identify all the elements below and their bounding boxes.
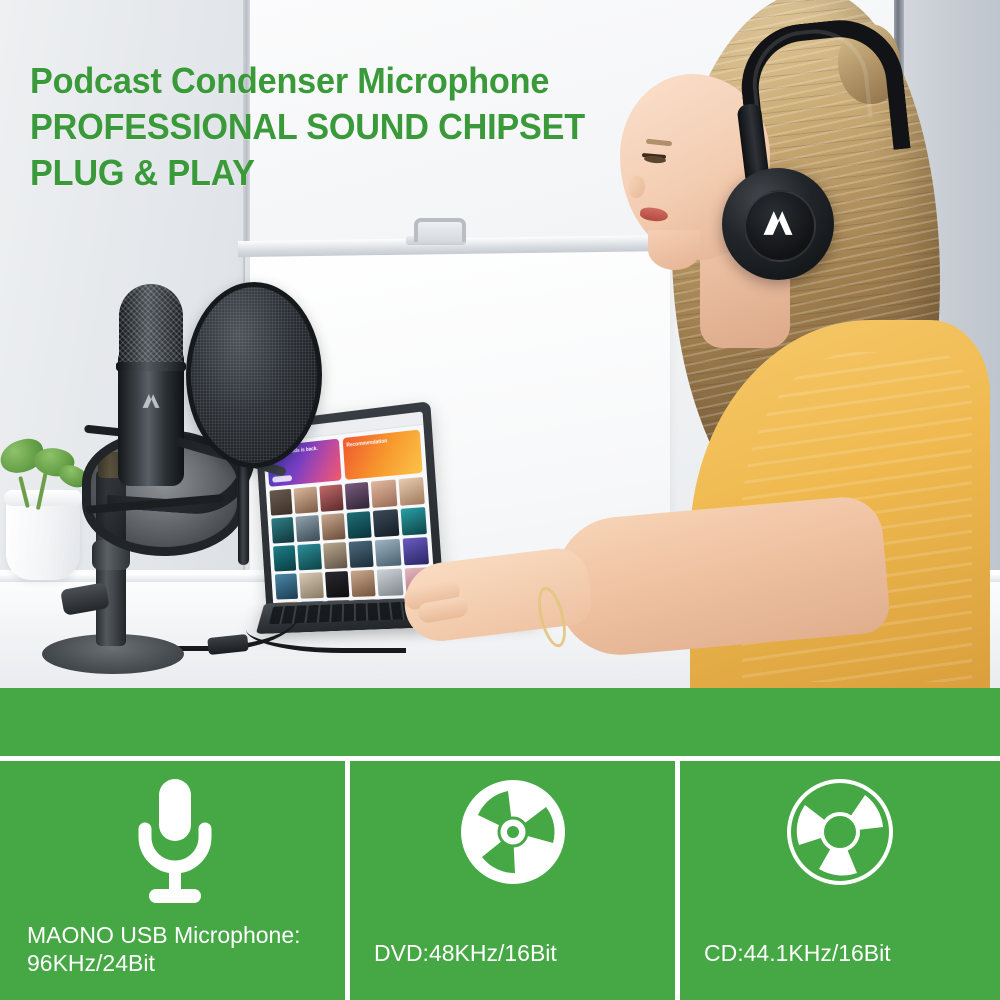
laptop-thumbnail — [298, 544, 322, 571]
laptop-thumbnail — [273, 545, 296, 571]
spec-panel-dvd: DVD:48KHz/16Bit — [350, 761, 675, 1000]
product-photo: Color sounds is back. Recommendation — [0, 0, 1000, 690]
maono-m-logo-icon — [140, 392, 162, 410]
laptop-thumbnail — [323, 542, 348, 569]
laptop-thumbnail — [321, 513, 346, 540]
laptop-thumbnail — [345, 482, 370, 510]
product-marketing-image: Color sounds is back. Recommendation — [0, 0, 1000, 1000]
laptop-thumbnail — [371, 479, 397, 507]
microphone-ring — [116, 362, 186, 371]
maono-m-logo-icon — [761, 208, 795, 238]
laptop-banner-secondary: Recommendation — [342, 429, 423, 479]
dvd-icon-wrap — [350, 777, 675, 887]
headline-line-2: PROFESSIONAL SOUND CHIPSET — [30, 104, 638, 150]
microphone-grille — [119, 284, 183, 368]
laptop-thumbnail — [299, 572, 323, 598]
plant-pot — [6, 494, 80, 580]
headline-line-3: PLUG & PLAY — [30, 150, 638, 196]
headline: Podcast Condenser Microphone PROFESSIONA… — [30, 58, 638, 196]
laptop-banner-secondary-text: Recommendation — [346, 436, 408, 449]
laptop-thumbnail — [319, 484, 344, 512]
pop-filter-stem — [238, 455, 249, 565]
laptop-thumbnail — [349, 540, 374, 567]
laptop-thumbnail — [347, 511, 372, 539]
laptop-thumbnail — [377, 569, 403, 597]
spec-label-cd: CD:44.1KHz/16Bit — [704, 939, 986, 968]
cd-icon-wrap — [680, 777, 1000, 887]
laptop-thumbnail — [375, 539, 401, 567]
laptop-thumbnail — [400, 507, 427, 536]
spec-panel-microphone: MAONO USB Microphone: 96KHz/24Bit — [5, 761, 345, 1000]
headline-line-1: Podcast Condenser Microphone — [30, 58, 638, 104]
laptop-thumbnail — [271, 517, 294, 544]
laptop-thumbnail — [294, 487, 318, 514]
spec-label-microphone: MAONO USB Microphone: 96KHz/24Bit — [27, 921, 331, 978]
microphone-icon-wrap — [5, 777, 345, 909]
forearm — [551, 494, 892, 660]
pop-filter — [186, 282, 322, 468]
laptop-thumbnail — [351, 570, 376, 597]
dvd-disc-icon — [458, 777, 568, 887]
laptop-thumbnail — [269, 489, 292, 516]
spec-label-dvd: DVD:48KHz/16Bit — [374, 939, 661, 968]
chin — [648, 230, 700, 270]
microphone-icon — [123, 777, 227, 909]
laptop-thumbnail — [296, 515, 320, 542]
laptop-thumbnail — [325, 571, 350, 598]
board-handle — [414, 218, 466, 242]
laptop-thumbnail — [402, 537, 429, 565]
laptop-thumbnail — [373, 509, 399, 537]
laptop-banner-button — [272, 475, 292, 483]
cd-disc-icon — [785, 777, 895, 887]
spec-panel-cd: CD:44.1KHz/16Bit — [680, 761, 1000, 1000]
laptop-thumbnail — [398, 477, 425, 506]
